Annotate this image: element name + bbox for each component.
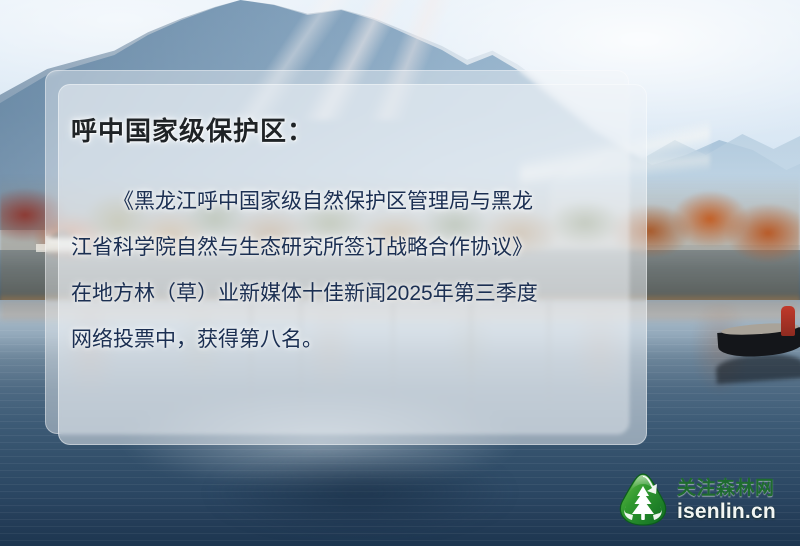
- water-shadow: [150, 438, 570, 546]
- page-title: 呼中国家级保护区：: [71, 111, 314, 148]
- site-name: 关注森林网: [677, 479, 776, 498]
- body-line: 江省科学院自然与生态研究所签订战略合作协议》: [71, 225, 623, 271]
- body-line: 在地方林（草）业新媒体十佳新闻2025年第三季度: [71, 271, 623, 317]
- watermark-text: 关注森林网 isenlin.cn: [677, 479, 776, 522]
- text-block: 呼中国家级保护区： 《黑龙江呼中国家级自然保护区管理局与黑龙 江省科学院自然与生…: [58, 84, 645, 443]
- body-line: 《黑龙江呼中国家级自然保护区管理局与黑龙: [71, 179, 623, 225]
- body-paragraph: 《黑龙江呼中国家级自然保护区管理局与黑龙 江省科学院自然与生态研究所签订战略合作…: [71, 179, 623, 363]
- boat-passenger: [781, 306, 795, 336]
- pine-tree-recycle-icon: [616, 472, 670, 528]
- slide-canvas: 呼中国家级保护区： 《黑龙江呼中国家级自然保护区管理局与黑龙 江省科学院自然与生…: [0, 0, 800, 546]
- site-url-text: isenlin.cn: [677, 501, 776, 522]
- body-line: 网络投票中，获得第八名。: [71, 317, 623, 363]
- site-watermark: 关注森林网 isenlin.cn: [616, 470, 788, 530]
